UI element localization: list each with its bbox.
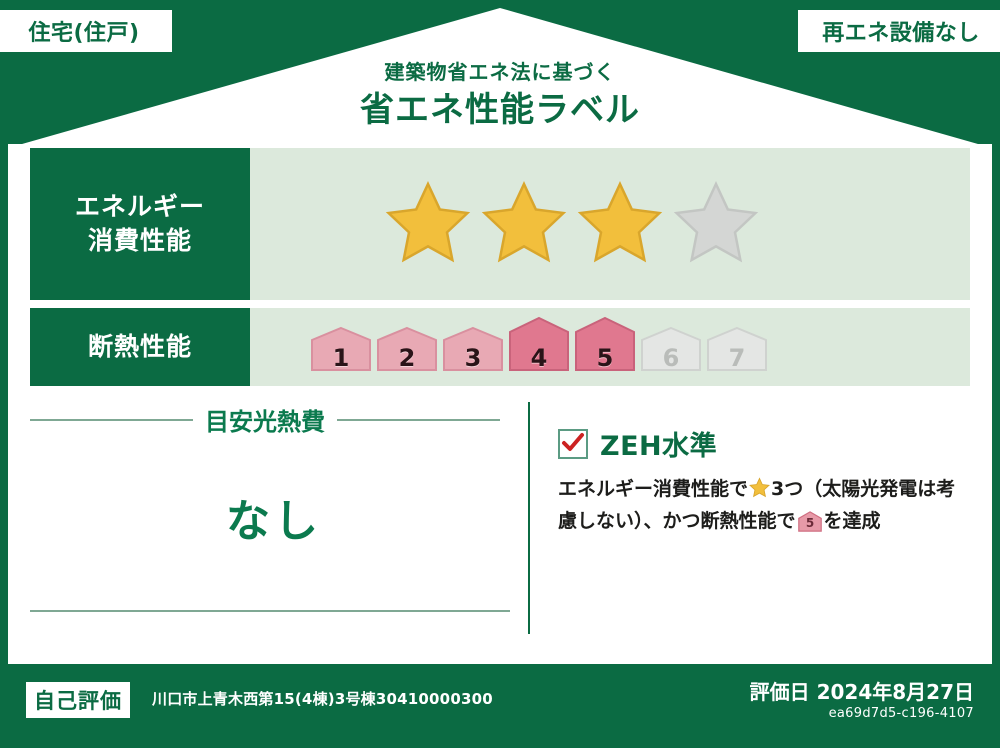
- insulation-level-number: 3: [442, 344, 504, 372]
- label-footer: 自己評価 川口市上青木西第15(4棟)3号棟30410000300 評価日 20…: [0, 664, 1000, 748]
- insulation-level-number: 4: [508, 344, 570, 372]
- insulation-level-chip: 1: [310, 326, 372, 378]
- zeh-block: ZEH水準 エネルギー消費性能で3つ（太陽光発電は考慮しない）、かつ断熱性能で5…: [530, 402, 970, 634]
- insulation-level-chip: 4: [508, 316, 570, 378]
- label-title-block: 建築物省エネ法に基づく 省エネ性能ラベル: [0, 60, 1000, 132]
- energy-label-line1: エネルギー: [75, 190, 205, 224]
- star-filled-icon: [481, 179, 567, 269]
- insulation-level-number: 5: [574, 344, 636, 372]
- star-filled-icon: [577, 179, 663, 269]
- self-evaluation-badge: 自己評価: [26, 682, 130, 718]
- zeh-desc-part1: エネルギー消費性能で: [558, 478, 748, 500]
- insulation-level-chip: 5: [574, 316, 636, 378]
- property-address: 川口市上青木西第15(4棟)3号棟30410000300: [152, 688, 493, 709]
- badge-renewable-energy-label: 再エネ設備なし: [822, 15, 980, 47]
- label-content: エネルギー 消費性能 断熱性能 1234567 目安光熱費: [30, 148, 970, 634]
- utility-cost-heading-label: 目安光熱費: [205, 402, 325, 437]
- inline-star-icon: [749, 481, 770, 503]
- insulation-level-chip: 2: [376, 326, 438, 378]
- insulation-level-number: 6: [640, 344, 702, 372]
- utility-cost-block: 目安光熱費 なし: [30, 402, 530, 634]
- insulation-level-number: 1: [310, 344, 372, 372]
- zeh-title: ZEH水準: [600, 424, 717, 463]
- energy-performance-row: エネルギー 消費性能: [30, 148, 970, 300]
- insulation-performance-row: 断熱性能 1234567: [30, 308, 970, 386]
- insulation-level-chip: 6: [640, 326, 702, 378]
- heading-rule-left: [30, 419, 193, 421]
- insulation-level-number: 7: [706, 344, 768, 372]
- insulation-performance-panel: 1234567: [250, 308, 970, 386]
- inline-house-level: 5: [805, 517, 813, 531]
- energy-performance-label: 住宅(住戸) 再エネ設備なし 建築物省エネ法に基づく 省エネ性能ラベル エネルギ…: [0, 0, 1000, 748]
- insulation-level-chip: 7: [706, 326, 768, 378]
- zeh-checkbox[interactable]: [558, 429, 588, 459]
- insulation-level-chip: 3: [442, 326, 504, 378]
- energy-performance-label-block: エネルギー 消費性能: [30, 148, 250, 300]
- zeh-heading: ZEH水準: [558, 424, 970, 463]
- badge-building-type-label: 住宅(住戸): [28, 15, 139, 47]
- badge-renewable-energy: 再エネ設備なし: [798, 10, 1000, 52]
- zeh-desc-part3: を達成: [824, 510, 881, 532]
- star-empty-icon: [673, 179, 759, 269]
- utility-cost-heading: 目安光熱費: [30, 402, 518, 437]
- inline-house-badge: 5: [798, 515, 822, 537]
- cost-and-zeh-section: 目安光熱費 なし ZEH水準 エネルギー消費性能で3つ（太陽光発電は考慮しな: [30, 402, 970, 634]
- star-filled-icon: [385, 179, 471, 269]
- star-rating: [385, 179, 759, 269]
- utility-cost-bottom-rule: [30, 610, 510, 612]
- evaluation-date: 評価日 2024年8月27日: [750, 676, 974, 705]
- insulation-performance-label-block: 断熱性能: [30, 308, 250, 386]
- label-id-code: ea69d7d5-c196-4107: [829, 706, 974, 721]
- check-icon: [560, 430, 586, 456]
- title-subtitle: 建築物省エネ法に基づく: [0, 60, 1000, 84]
- energy-label-line2: 消費性能: [75, 224, 205, 258]
- zeh-description: エネルギー消費性能で3つ（太陽光発電は考慮しない）、かつ断熱性能で5を達成: [558, 475, 970, 542]
- energy-performance-panel: [250, 148, 970, 300]
- badge-building-type: 住宅(住戸): [0, 10, 172, 52]
- utility-cost-value: なし: [30, 485, 518, 549]
- page-title: 省エネ性能ラベル: [0, 88, 1000, 132]
- insulation-label: 断熱性能: [88, 330, 192, 364]
- insulation-level-number: 2: [376, 344, 438, 372]
- heading-rule-right: [337, 419, 500, 421]
- insulation-level-scale: 1234567: [310, 316, 768, 378]
